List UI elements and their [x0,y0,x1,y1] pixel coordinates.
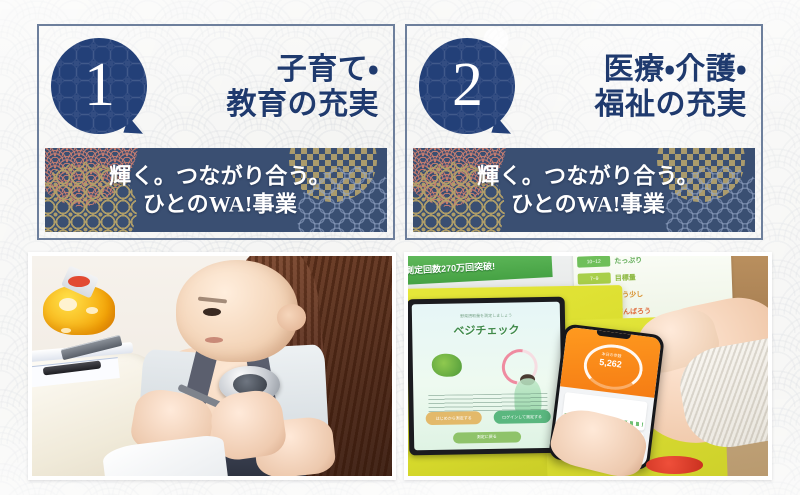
card-2-header: 2 医療・介護・ 福祉の充実 [407,26,761,148]
card-2[interactable]: 2 医療・介護・ 福祉の充実 輝く。つながり合う。 ひとのWA!事業 [405,24,763,240]
page-root: 1 子育て・ 教育の充実 輝く。つながり合う。 ひとのWA!事業 [0,0,800,495]
card-2-number-badge: 2 [419,38,515,134]
photo-baby-checkup [32,256,392,476]
card-1-header: 1 子育て・ 教育の充実 [39,26,393,148]
vegetable-icon [432,353,462,377]
card-1-title-line-2: 教育の充実 [147,87,379,122]
card-1-banner-text: 輝く。つながり合う。 ひとのWA!事業 [45,162,387,217]
card-2-title-line-2: 福祉の充実 [515,87,747,122]
tablet-title: ベジチェック [412,321,561,340]
card-1-banner: 輝く。つながり合う。 ひとのWA!事業 [45,148,387,232]
tablet-screen[interactable]: 野菜摂取量を測定しましょう ベジチェック はじめから測定する ログインして測定す… [412,302,563,451]
card-2-banner-line-1: 輝く。つながり合う。 [421,162,755,190]
poster-row-label: たっぷり [614,256,642,266]
photo-card-2: 10~12 たっぷり 7~9 目標量 4~6 もう少し 1~3 がんばろう [404,252,772,480]
card-1-title: 子育て・ 教育の充実 [147,52,383,122]
card-2-title-line-1: 医療・介護・ [515,52,747,87]
toy-red-bead [68,276,90,287]
card-1-banner-line-2: ひとのWA!事業 [53,190,387,218]
card-2-banner-line-2: ひとのWA!事業 [421,190,755,218]
card-1-banner-line-1: 輝く。つながり合う。 [53,162,387,190]
card-list: 1 子育て・ 教育の充実 輝く。つながり合う。 ひとのWA!事業 [0,0,800,252]
card-2-title: 医療・介護・ 福祉の充実 [515,52,751,122]
card-1[interactable]: 1 子育て・ 教育の充実 輝く。つながり合う。 ひとのWA!事業 [37,24,395,240]
card-2-banner-text: 輝く。つながり合う。 ひとのWA!事業 [413,162,755,217]
strawberry-logo-icon [646,456,704,474]
card-1-title-line-1: 子育て・ [147,52,379,87]
kiosk-tablet[interactable]: 野菜摂取量を測定しましょう ベジチェック はじめから測定する ログインして測定す… [408,296,568,455]
tablet-button-left[interactable]: はじめから測定する [425,411,482,425]
card-2-banner: 輝く。つながり合う。 ひとのWA!事業 [413,148,755,232]
poster-row-tag: 10~12 [577,256,610,268]
poster-row-label: 目標量 [614,272,635,283]
baby-ear [277,304,306,330]
tablet-button-right[interactable]: ログインして測定する [494,410,551,424]
tablet-button-back[interactable]: 測定に戻る [453,431,521,444]
photo-vegecheck-kiosk: 10~12 たっぷり 7~9 目標量 4~6 もう少し 1~3 がんばろう [408,256,768,476]
photo-card-1 [28,252,396,480]
baby-eye [203,308,221,316]
card-1-number: 1 [51,38,147,134]
poster-row-tag: 7~9 [577,273,610,285]
tablet-subtitle: 野菜摂取量を測定しましょう [412,312,560,321]
card-1-number-badge: 1 [51,38,147,134]
kiosk-banner-text: 測定回数270万回突破! [408,258,495,276]
photo-list: 10~12 たっぷり 7~9 目標量 4~6 もう少し 1~3 がんばろう [0,252,800,495]
card-2-number: 2 [419,38,515,134]
tablet-body-text [428,392,547,412]
